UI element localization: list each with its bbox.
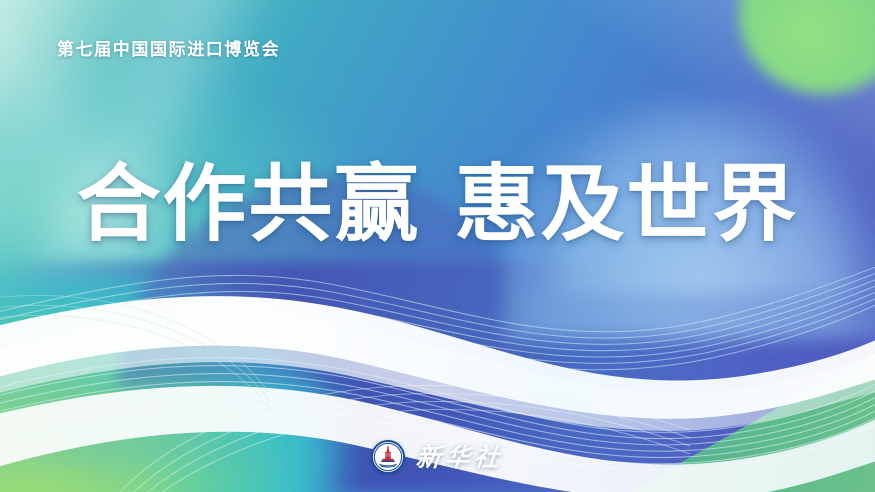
expo-header-title: 第七届中国国际进口博览会	[57, 35, 280, 60]
slogan-part-one: 合作共赢	[76, 155, 420, 253]
xinhua-wordmark: 新华社	[415, 445, 505, 470]
xinhua-tower-emblem-icon	[371, 440, 405, 474]
poster-canvas: 第七届中国国际进口博览会 合作共赢惠及世界	[0, 0, 875, 492]
slogan-part-two: 惠及世界	[455, 155, 799, 253]
xinhua-logo: 新华社	[0, 440, 875, 474]
main-slogan: 合作共赢惠及世界	[0, 162, 875, 246]
